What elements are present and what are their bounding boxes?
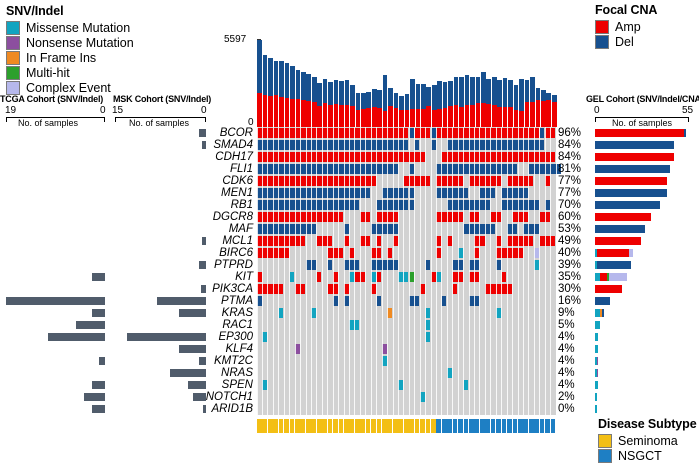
tcga-axis-min: 0 xyxy=(100,105,106,116)
tmb-bar-del xyxy=(546,93,551,100)
subtype-cell xyxy=(290,419,295,433)
subtype-cell xyxy=(393,419,398,433)
gene-label-maf[interactable]: MAF xyxy=(150,223,253,235)
tmb-bar-amp xyxy=(465,105,470,127)
matrix-column-separator xyxy=(447,127,448,415)
oncoprint-cell[interactable] xyxy=(371,284,376,293)
oncoprint-cell[interactable] xyxy=(507,236,533,245)
gel-bar-segment xyxy=(595,237,641,245)
oncoprint-cell[interactable] xyxy=(496,308,501,317)
oncoprint-cell[interactable] xyxy=(344,224,349,233)
tcga-bar-ptma xyxy=(6,297,105,305)
color-swatch-icon xyxy=(595,20,609,34)
gene-label-birc6[interactable]: BIRC6 xyxy=(150,247,253,259)
color-swatch-icon xyxy=(595,35,609,49)
tmb-bar-del xyxy=(312,77,317,102)
msk-bar-ptprd xyxy=(199,261,206,269)
oncoprint-cell[interactable] xyxy=(502,188,528,197)
oncoprint-cell[interactable] xyxy=(420,392,425,401)
oncoprint-cell[interactable] xyxy=(317,272,322,281)
oncoprint-cell[interactable] xyxy=(344,236,349,245)
msk-bar-ptma xyxy=(157,297,206,305)
tmb-bar-amp xyxy=(388,106,393,127)
subtype-cell xyxy=(387,419,392,433)
matrix-column-separator xyxy=(501,127,502,415)
tmb-bar-amp xyxy=(470,105,475,127)
oncoprint-cell[interactable] xyxy=(262,332,267,341)
oncoprint-cell[interactable] xyxy=(458,248,463,257)
oncoprint-cell[interactable] xyxy=(371,260,397,269)
oncoprint-cell[interactable] xyxy=(257,284,283,293)
oncoprint-cell[interactable] xyxy=(328,260,333,269)
tmb-bar-amp xyxy=(345,105,350,127)
matrix-column-separator xyxy=(534,127,535,415)
oncoprint-cell[interactable] xyxy=(447,368,452,377)
gene-percent-notch1: 2% xyxy=(558,391,590,403)
subtype-cell xyxy=(328,419,333,433)
oncoprint-cell[interactable] xyxy=(513,212,529,221)
tmb-bar-amp xyxy=(301,100,306,127)
tmb-bar-amp xyxy=(421,109,426,127)
oncoprint-cell[interactable] xyxy=(409,272,414,281)
tmb-bar-del xyxy=(405,94,410,111)
tmb-bar-amp xyxy=(514,110,519,127)
matrix-column-separator xyxy=(273,127,274,415)
subtype-cell xyxy=(436,419,441,433)
tmb-bar-del xyxy=(274,61,279,95)
color-swatch-icon xyxy=(6,81,20,95)
oncoprint-cell[interactable] xyxy=(426,332,431,341)
color-swatch-icon xyxy=(598,449,612,463)
subtype-cell xyxy=(398,419,403,433)
matrix-column-separator xyxy=(431,127,432,415)
matrix-column-separator xyxy=(512,127,513,415)
subtype-cell xyxy=(502,419,507,433)
gel-bar-segment xyxy=(602,309,604,317)
msk-bar-smad4 xyxy=(202,141,206,149)
gene-percent-men1: 77% xyxy=(558,187,590,199)
oncoprint-cell[interactable] xyxy=(464,380,469,389)
gel-bar-segment xyxy=(595,129,684,137)
tmb-bar-amp xyxy=(519,111,524,128)
subtype-cell xyxy=(551,419,556,433)
gene-percent-klf4: 4% xyxy=(558,343,590,355)
gene-percent-dgcr8: 60% xyxy=(558,211,590,223)
snv-legend: SNV/Indel Missense MutationNonsense Muta… xyxy=(6,4,134,95)
oncoprint-cell[interactable] xyxy=(344,260,360,269)
oncoprint-cell[interactable] xyxy=(447,236,452,245)
gene-label-fli1[interactable]: FLI1 xyxy=(150,163,253,175)
subtype-cell xyxy=(518,419,523,433)
tcga-bar-rac1 xyxy=(76,321,105,329)
tmb-bar-del xyxy=(328,82,333,104)
gene-label-cdh17[interactable]: CDH17 xyxy=(150,151,253,163)
matrix-column-separator xyxy=(354,127,355,415)
msk-axis-bracket xyxy=(115,117,206,122)
gene-percent-arid1b: 0% xyxy=(558,403,590,415)
tmb-bar-del xyxy=(514,85,519,109)
subtype-legend-item-1: NSGCT xyxy=(598,448,697,463)
matrix-column-separator xyxy=(316,127,317,415)
oncoprint-cell[interactable] xyxy=(436,176,462,185)
oncoprint-cell[interactable] xyxy=(431,140,436,149)
matrix-column-separator xyxy=(257,127,258,415)
oncoprint-cell[interactable] xyxy=(382,344,387,353)
matrix-column-separator xyxy=(414,127,415,415)
tmb-bar-amp xyxy=(481,103,486,127)
matrix-column-separator xyxy=(485,127,486,415)
oncoprint-cell[interactable] xyxy=(545,176,550,185)
tmb-bar-amp xyxy=(508,107,513,127)
oncoprint-cell[interactable] xyxy=(409,128,414,137)
gene-label-cdk6[interactable]: CDK6 xyxy=(150,175,253,187)
msk-axis-title: MSK Cohort (SNV/Indel) xyxy=(113,94,211,104)
tmb-bar-amp xyxy=(448,106,453,127)
gene-percent-birc6: 40% xyxy=(558,247,590,259)
oncoprint-cell[interactable] xyxy=(453,284,458,293)
oncoprint-cell[interactable] xyxy=(474,248,479,257)
oncoprint-cell[interactable] xyxy=(333,272,338,281)
oncoprint-cell[interactable] xyxy=(409,188,414,197)
oncoprint-cell[interactable] xyxy=(540,128,545,137)
matrix-column-separator xyxy=(349,127,350,415)
tmb-bar-del xyxy=(432,85,437,110)
oncoprint-cell[interactable] xyxy=(507,176,533,185)
gel-bar-segment xyxy=(595,381,598,389)
msk-bar-kmt2c xyxy=(199,357,206,365)
gene-percent-spen: 4% xyxy=(558,379,590,391)
tmb-bar-amp xyxy=(312,102,317,127)
gene-percent-rac1: 5% xyxy=(558,319,590,331)
oncoprint-cell[interactable] xyxy=(387,308,392,317)
matrix-column-separator xyxy=(441,127,442,415)
matrix-column-separator xyxy=(474,127,475,415)
oncoprint-cell[interactable] xyxy=(436,272,441,281)
tmb-chart: 5597 0 xyxy=(224,38,564,128)
tmb-bar-del xyxy=(541,90,546,100)
matrix-column-separator xyxy=(539,127,540,415)
oncoprint-cell[interactable] xyxy=(523,224,539,233)
tmb-bar-del xyxy=(323,79,328,104)
oncoprint-cell[interactable] xyxy=(349,248,354,257)
gene-percent-maf: 53% xyxy=(558,223,590,235)
oncoprint-cell[interactable] xyxy=(436,236,441,245)
subtype-cell xyxy=(268,419,273,433)
tcga-bar-notch1 xyxy=(84,393,105,401)
matrix-column-separator xyxy=(365,127,366,415)
matrix-column-separator xyxy=(267,127,268,415)
msk-bar-ep300 xyxy=(127,333,206,341)
tmb-bar-amp xyxy=(454,105,459,127)
tmb-bar-del xyxy=(290,66,295,98)
oncoprint-cell[interactable] xyxy=(523,152,528,161)
subtype-cell xyxy=(371,419,376,433)
oncoprint-cell[interactable] xyxy=(485,284,511,293)
oncoprint-cell[interactable] xyxy=(404,176,430,185)
subtype-cell xyxy=(540,419,545,433)
oncoprint-cell[interactable] xyxy=(415,140,420,149)
oncoprint-cell[interactable] xyxy=(257,296,262,305)
gel-bar-segment xyxy=(609,273,628,281)
tmb-bar-del xyxy=(454,77,459,106)
msk-bar-kras xyxy=(179,309,206,317)
oncoprint-cell[interactable] xyxy=(426,260,431,269)
gel-axis-max: 55 xyxy=(682,105,693,116)
tmb-bar-del xyxy=(394,93,399,108)
tmb-bar-amp xyxy=(361,109,366,127)
subtype-cell xyxy=(415,419,420,433)
tmb-bar-del xyxy=(399,96,404,110)
subtype-cell xyxy=(534,419,539,433)
gene-label-men1[interactable]: MEN1 xyxy=(150,187,253,199)
oncoprint-cell[interactable] xyxy=(333,296,338,305)
tmb-bar-amp xyxy=(497,107,502,127)
subtype-cell xyxy=(317,419,322,433)
oncoprint-cell[interactable] xyxy=(431,128,436,137)
disease-subtype-strip xyxy=(257,419,556,433)
subtype-cell xyxy=(529,419,534,433)
oncoprint-cells[interactable] xyxy=(257,127,556,415)
oncoprint-cell[interactable] xyxy=(328,248,344,257)
cna-legend-items: AmpDel xyxy=(595,19,657,49)
oncoprint-cell[interactable] xyxy=(534,248,539,257)
tmb-bar-amp xyxy=(372,107,377,127)
tmb-bar-amp xyxy=(317,106,322,127)
tmb-bar-del xyxy=(492,77,497,105)
gel-bar-segment xyxy=(595,333,598,341)
tmb-bar-del xyxy=(285,63,290,98)
tmb-bar-del xyxy=(268,58,273,96)
oncoprint-cell[interactable] xyxy=(409,200,414,209)
matrix-column-separator xyxy=(490,127,491,415)
msk-bar-pik3ca xyxy=(201,285,206,293)
tmb-bar-amp xyxy=(443,108,448,127)
oncoprint-cell[interactable] xyxy=(377,236,382,245)
matrix-column-separator xyxy=(458,127,459,415)
tmb-bar-amp xyxy=(399,110,404,127)
gene-percent-ptprd: 39% xyxy=(558,259,590,271)
tmb-bar-amp xyxy=(486,104,491,127)
gel-axis-min: 0 xyxy=(594,105,600,116)
gene-percent-bcor: 96% xyxy=(558,127,590,139)
gel-axis-bracket xyxy=(595,117,689,122)
tmb-bar-amp xyxy=(290,99,295,127)
tcga-bar-ep300 xyxy=(48,333,105,341)
gene-label-kit[interactable]: KIT xyxy=(150,271,253,283)
oncoprint-cell[interactable] xyxy=(387,248,392,257)
snv-legend-item-label: In Frame Ins xyxy=(26,52,96,64)
matrix-column-separator xyxy=(295,127,296,415)
matrix-column-separator xyxy=(311,127,312,415)
color-swatch-icon xyxy=(6,51,20,65)
gene-label-rb1[interactable]: RB1 xyxy=(150,199,253,211)
gene-percent-nras: 4% xyxy=(558,367,590,379)
oncoprint-cell[interactable] xyxy=(257,152,425,161)
oncoprint-cell[interactable] xyxy=(502,272,507,281)
gel-bar-segment xyxy=(684,129,686,137)
gene-percent-ptma: 16% xyxy=(558,295,590,307)
tmb-bar-del xyxy=(263,55,268,94)
gene-label-rac1[interactable]: RAC1 xyxy=(150,319,253,331)
tcga-bar-arid1b xyxy=(92,405,105,413)
gene-percent-mcl1: 49% xyxy=(558,235,590,247)
subtype-cell xyxy=(349,419,354,433)
tmb-bar-amp xyxy=(405,110,410,127)
subtype-cell xyxy=(474,419,479,433)
oncoprint-cell[interactable] xyxy=(371,224,387,233)
snv-legend-item-4: Complex Event xyxy=(6,80,134,95)
tcga-bar-kit xyxy=(92,273,105,281)
tmb-bar-amp xyxy=(377,108,382,127)
subtype-cell xyxy=(447,419,452,433)
oncoprint-cell[interactable] xyxy=(382,356,387,365)
tmb-bar-amp xyxy=(394,108,399,127)
oncoprint-cell[interactable] xyxy=(290,272,295,281)
tmb-bar-amp xyxy=(546,100,551,127)
tmb-bar-del xyxy=(334,80,339,104)
tmb-bar-del xyxy=(470,77,475,105)
oncoprint-cell[interactable] xyxy=(496,260,501,269)
snv-legend-item-label: Nonsense Mutation xyxy=(26,37,134,49)
subtype-cell xyxy=(480,419,485,433)
oncoprint-cell[interactable] xyxy=(496,236,501,245)
oncoprint-cell[interactable] xyxy=(540,236,556,245)
tmb-bar-del xyxy=(301,72,306,100)
gene-percent-cdh17: 84% xyxy=(558,151,590,163)
snv-legend-item-2: In Frame Ins xyxy=(6,50,134,65)
tmb-bar-amp xyxy=(541,101,546,127)
tmb-bar-del xyxy=(356,93,361,111)
oncoprint-cell[interactable] xyxy=(496,248,522,257)
cna-legend-item-1: Del xyxy=(595,34,657,49)
oncoprint-cell[interactable] xyxy=(262,380,267,389)
oncoprint-cell[interactable] xyxy=(436,164,517,173)
oncoprint-cell[interactable] xyxy=(371,272,376,281)
oncoprint-cell[interactable] xyxy=(257,224,316,233)
tmb-bar-del xyxy=(372,89,377,107)
gene-percent-fli1: 81% xyxy=(558,163,590,175)
oncoprint-cell[interactable] xyxy=(415,128,431,137)
oncoprint-cell[interactable] xyxy=(426,308,431,317)
matrix-column-separator xyxy=(327,127,328,415)
matrix-column-separator xyxy=(278,127,279,415)
subtype-cell xyxy=(360,419,365,433)
gene-percent-ep300: 4% xyxy=(558,331,590,343)
subtype-cell xyxy=(333,419,338,433)
gel-bar-segment xyxy=(595,201,660,209)
matrix-column-separator xyxy=(550,127,551,415)
subtype-cell xyxy=(545,419,550,433)
tmb-max-label: 5597 xyxy=(224,34,246,45)
subtype-cell xyxy=(469,419,474,433)
matrix-column-separator xyxy=(393,127,394,415)
oncoprint-cell[interactable] xyxy=(257,188,370,197)
tmb-bar-del xyxy=(410,79,415,109)
snv-legend-item-label: Complex Event xyxy=(26,82,111,94)
subtype-cell xyxy=(262,419,267,433)
tcga-axis-bracket xyxy=(6,117,105,122)
subtype-cell xyxy=(491,419,496,433)
oncoprint-cell[interactable] xyxy=(344,296,349,305)
tmb-bar-del xyxy=(508,80,513,107)
oncoprint-cell[interactable] xyxy=(344,284,349,293)
oncoprint-cell[interactable] xyxy=(279,308,284,317)
oncoprint-cell[interactable] xyxy=(377,296,382,305)
gene-label-arid1b[interactable]: ARID1B xyxy=(150,403,253,415)
tcga-bar-spen xyxy=(92,381,105,389)
oncoprint-cell[interactable] xyxy=(377,272,382,281)
oncoprint-cell[interactable] xyxy=(436,248,441,257)
tmb-bar-del xyxy=(377,90,382,109)
oncoprint-cell[interactable] xyxy=(393,236,398,245)
tmb-bar-amp xyxy=(323,103,328,127)
oncoprint-cell[interactable] xyxy=(317,236,333,245)
tmb-bar-del xyxy=(536,88,541,101)
oncoprint-cell[interactable] xyxy=(257,272,262,281)
tmb-bar-del xyxy=(416,84,421,109)
subtype-legend-item-0: Seminoma xyxy=(598,433,697,448)
tmb-bar-del xyxy=(552,95,557,102)
gel-bar-segment xyxy=(597,249,629,257)
oncoprint-cell[interactable] xyxy=(295,344,300,353)
tmb-bar-del xyxy=(497,80,502,107)
matrix-column-separator xyxy=(371,127,372,415)
matrix-column-separator xyxy=(479,127,480,415)
oncoprint-cell[interactable] xyxy=(551,152,556,161)
oncoprint-cell[interactable] xyxy=(398,380,403,389)
oncoprint-cell[interactable] xyxy=(257,236,305,245)
tmb-bar-amp xyxy=(328,105,333,127)
tmb-bar-del xyxy=(481,72,486,103)
tmb-bar-del xyxy=(421,84,426,109)
oncoprint-cell[interactable] xyxy=(534,260,539,269)
tmb-bar-amp xyxy=(366,108,371,127)
matrix-column-separator xyxy=(376,127,377,415)
subtype-cell xyxy=(295,419,300,433)
matrix-column-separator xyxy=(344,127,345,415)
gene-label-dgcr8[interactable]: DGCR8 xyxy=(150,211,253,223)
gene-percent-pik3ca: 30% xyxy=(558,283,590,295)
subtype-cell xyxy=(306,419,311,433)
gel-bar-segment xyxy=(595,165,670,173)
subtype-legend: Disease Subtype SeminomaNSGCT xyxy=(598,417,697,463)
oncoprint-cell[interactable] xyxy=(311,308,316,317)
oncoprint-cell[interactable] xyxy=(436,212,452,221)
matrix-column-separator xyxy=(425,127,426,415)
tmb-bar-del xyxy=(525,80,530,102)
subtype-cell xyxy=(344,419,349,433)
subtype-cell xyxy=(523,419,528,433)
gel-bar-segment xyxy=(595,213,651,221)
oncoprint-cell[interactable] xyxy=(426,320,431,329)
tmb-bar-del xyxy=(317,83,322,106)
oncoprint-cell[interactable] xyxy=(420,284,425,293)
oncoprint-cell[interactable] xyxy=(442,296,447,305)
msk-axis-min: 0 xyxy=(201,105,207,116)
matrix-column-separator xyxy=(284,127,285,415)
matrix-column-separator xyxy=(507,127,508,415)
subtype-cell xyxy=(366,419,371,433)
oncoprint-cell[interactable] xyxy=(545,200,550,209)
tmb-bar-amp xyxy=(296,99,301,127)
oncoprint-cell[interactable] xyxy=(480,188,496,197)
matrix-column-separator xyxy=(469,127,470,415)
oncoprint-cell[interactable] xyxy=(409,164,414,173)
matrix-column-separator xyxy=(382,127,383,415)
color-swatch-icon xyxy=(6,66,20,80)
gene-percent-rb1: 70% xyxy=(558,199,590,211)
subtype-cell xyxy=(273,419,278,433)
